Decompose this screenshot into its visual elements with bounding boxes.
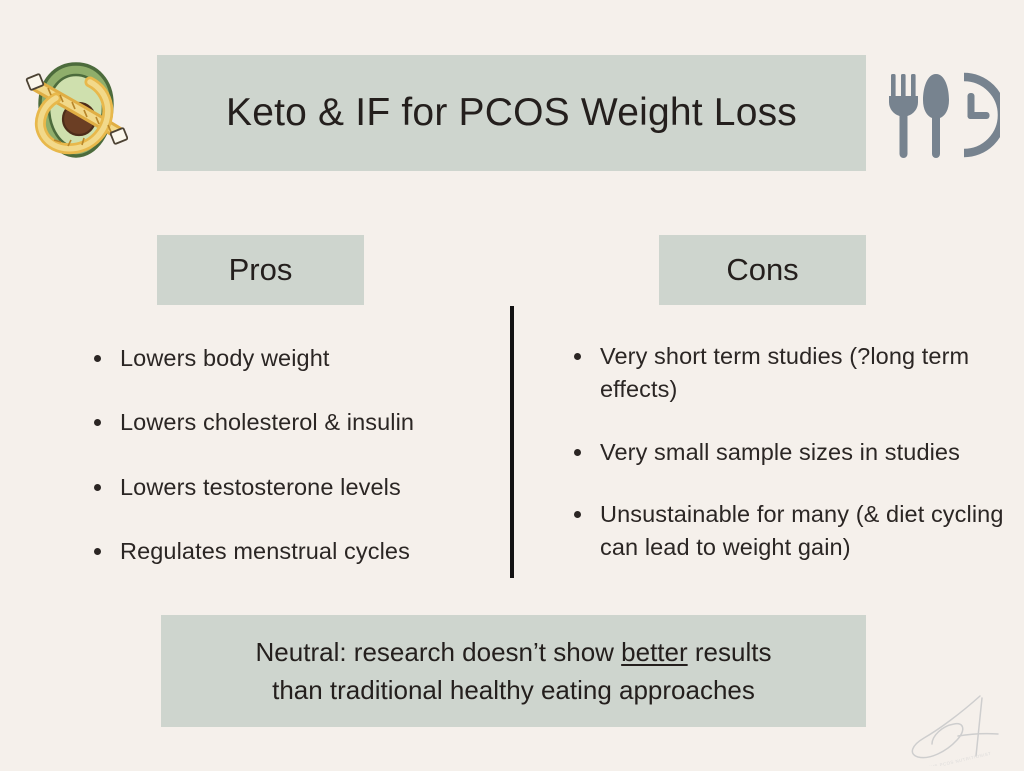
pros-heading: Pros bbox=[229, 252, 293, 288]
list-item: Very small sample sizes in studies bbox=[564, 436, 1016, 469]
cons-list: Very short term studies (?long term effe… bbox=[564, 340, 1016, 594]
bullet-dot-icon bbox=[574, 449, 581, 456]
list-item: Regulates menstrual cycles bbox=[84, 535, 494, 568]
neutral-line-1: Neutral: research doesn’t show better re… bbox=[256, 633, 772, 671]
cons-heading: Cons bbox=[726, 252, 798, 288]
list-item-label: Regulates menstrual cycles bbox=[120, 538, 410, 564]
list-item: Very short term studies (?long term effe… bbox=[564, 340, 1016, 407]
list-item-label: Unsustainable for many (& diet cycling c… bbox=[600, 501, 1003, 560]
list-item-label: Lowers body weight bbox=[120, 345, 330, 371]
bullet-dot-icon bbox=[94, 355, 101, 362]
bullet-dot-icon bbox=[94, 419, 101, 426]
neutral-emphasis-word: better bbox=[621, 637, 688, 667]
slide-canvas: Keto & IF for PCOS Weight Loss Pros bbox=[0, 0, 1024, 768]
list-item-label: Lowers testosterone levels bbox=[120, 474, 401, 500]
neutral-text-after: results bbox=[688, 637, 772, 667]
list-item-label: Lowers cholesterol & insulin bbox=[120, 409, 414, 435]
list-item: Lowers body weight bbox=[84, 342, 494, 375]
list-item: Lowers testosterone levels bbox=[84, 471, 494, 504]
cons-header-box: Cons bbox=[659, 235, 866, 305]
list-item-label: Very small sample sizes in studies bbox=[600, 439, 960, 465]
svg-text:THE PCOS NUTRITIONIST: THE PCOS NUTRITIONIST bbox=[927, 751, 991, 766]
neutral-summary-box: Neutral: research doesn’t show better re… bbox=[161, 615, 866, 727]
bullet-dot-icon bbox=[574, 353, 581, 360]
list-item-label: Very short term studies (?long term effe… bbox=[600, 343, 969, 402]
list-item: Unsustainable for many (& diet cycling c… bbox=[564, 498, 1016, 565]
fork-knife-clock-icon bbox=[884, 68, 1000, 162]
bullet-dot-icon bbox=[574, 511, 581, 518]
neutral-line-2: than traditional healthy eating approach… bbox=[272, 671, 755, 709]
script-a-monogram-watermark: THE PCOS NUTRITIONIST bbox=[902, 692, 1018, 766]
neutral-text-before: Neutral: research doesn’t show bbox=[256, 637, 622, 667]
title-banner: Keto & IF for PCOS Weight Loss bbox=[157, 55, 866, 171]
avocado-measuring-tape-icon bbox=[24, 48, 128, 172]
list-item: Lowers cholesterol & insulin bbox=[84, 406, 494, 439]
column-divider bbox=[510, 306, 514, 578]
pros-list: Lowers body weight Lowers cholesterol & … bbox=[84, 342, 494, 599]
bullet-dot-icon bbox=[94, 484, 101, 491]
bullet-dot-icon bbox=[94, 548, 101, 555]
pros-header-box: Pros bbox=[157, 235, 364, 305]
page-title: Keto & IF for PCOS Weight Loss bbox=[226, 91, 797, 136]
